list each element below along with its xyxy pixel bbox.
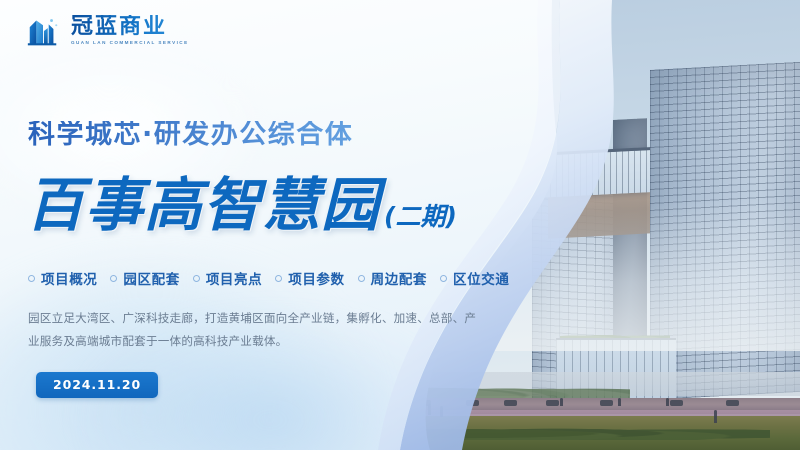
section-nav: 项目概况 园区配套 项目亮点 项目参数 周边配套	[28, 268, 509, 288]
date-badge[interactable]: 2024.11.20	[36, 372, 158, 398]
brand-logo[interactable]: 冠蓝商业 GUAN LAN COMMERCIAL SERVICE	[24, 12, 189, 48]
page-title: 百事高智慧园 (二期)	[26, 176, 457, 234]
hero-title-main: 百事高智慧园	[26, 176, 380, 234]
nav-item-label: 项目亮点	[206, 268, 262, 288]
nav-item-2[interactable]: 项目亮点	[193, 268, 262, 288]
brand-name-en: GUAN LAN COMMERCIAL SERVICE	[71, 40, 189, 45]
circle-bullet-icon	[193, 275, 200, 282]
circle-bullet-icon	[358, 275, 365, 282]
hero-subtitle: 科学城芯·研发办公综合体	[28, 121, 353, 148]
building-skyline-icon	[24, 12, 62, 48]
nav-item-4[interactable]: 周边配套	[358, 268, 427, 288]
brand-name-cn: 冠蓝商业	[71, 15, 189, 38]
circle-bullet-icon	[28, 275, 35, 282]
presentation-cover-slide: 冠蓝商业 GUAN LAN COMMERCIAL SERVICE 科学城芯·研发…	[0, 0, 800, 450]
hero-title-suffix: (二期)	[384, 204, 457, 234]
circle-bullet-icon	[110, 275, 117, 282]
circle-bullet-icon	[440, 275, 447, 282]
brand-logo-text: 冠蓝商业 GUAN LAN COMMERCIAL SERVICE	[71, 15, 189, 45]
nav-item-label: 周边配套	[371, 268, 427, 288]
circle-bullet-icon	[275, 275, 282, 282]
nav-item-label: 园区配套	[123, 268, 179, 288]
nav-item-5[interactable]: 区位交通	[440, 268, 509, 288]
nav-item-label: 区位交通	[453, 268, 509, 288]
nav-item-1[interactable]: 园区配套	[110, 268, 179, 288]
slide-content: 冠蓝商业 GUAN LAN COMMERCIAL SERVICE 科学城芯·研发…	[0, 0, 800, 450]
nav-item-3[interactable]: 项目参数	[275, 268, 344, 288]
nav-item-0[interactable]: 项目概况	[28, 268, 97, 288]
nav-item-label: 项目参数	[288, 268, 344, 288]
hero-description: 园区立足大湾区、广深科技走廊，打造黄埔区面向全产业链，集孵化、加速、总部、产业服…	[28, 307, 480, 352]
nav-item-label: 项目概况	[41, 268, 97, 288]
